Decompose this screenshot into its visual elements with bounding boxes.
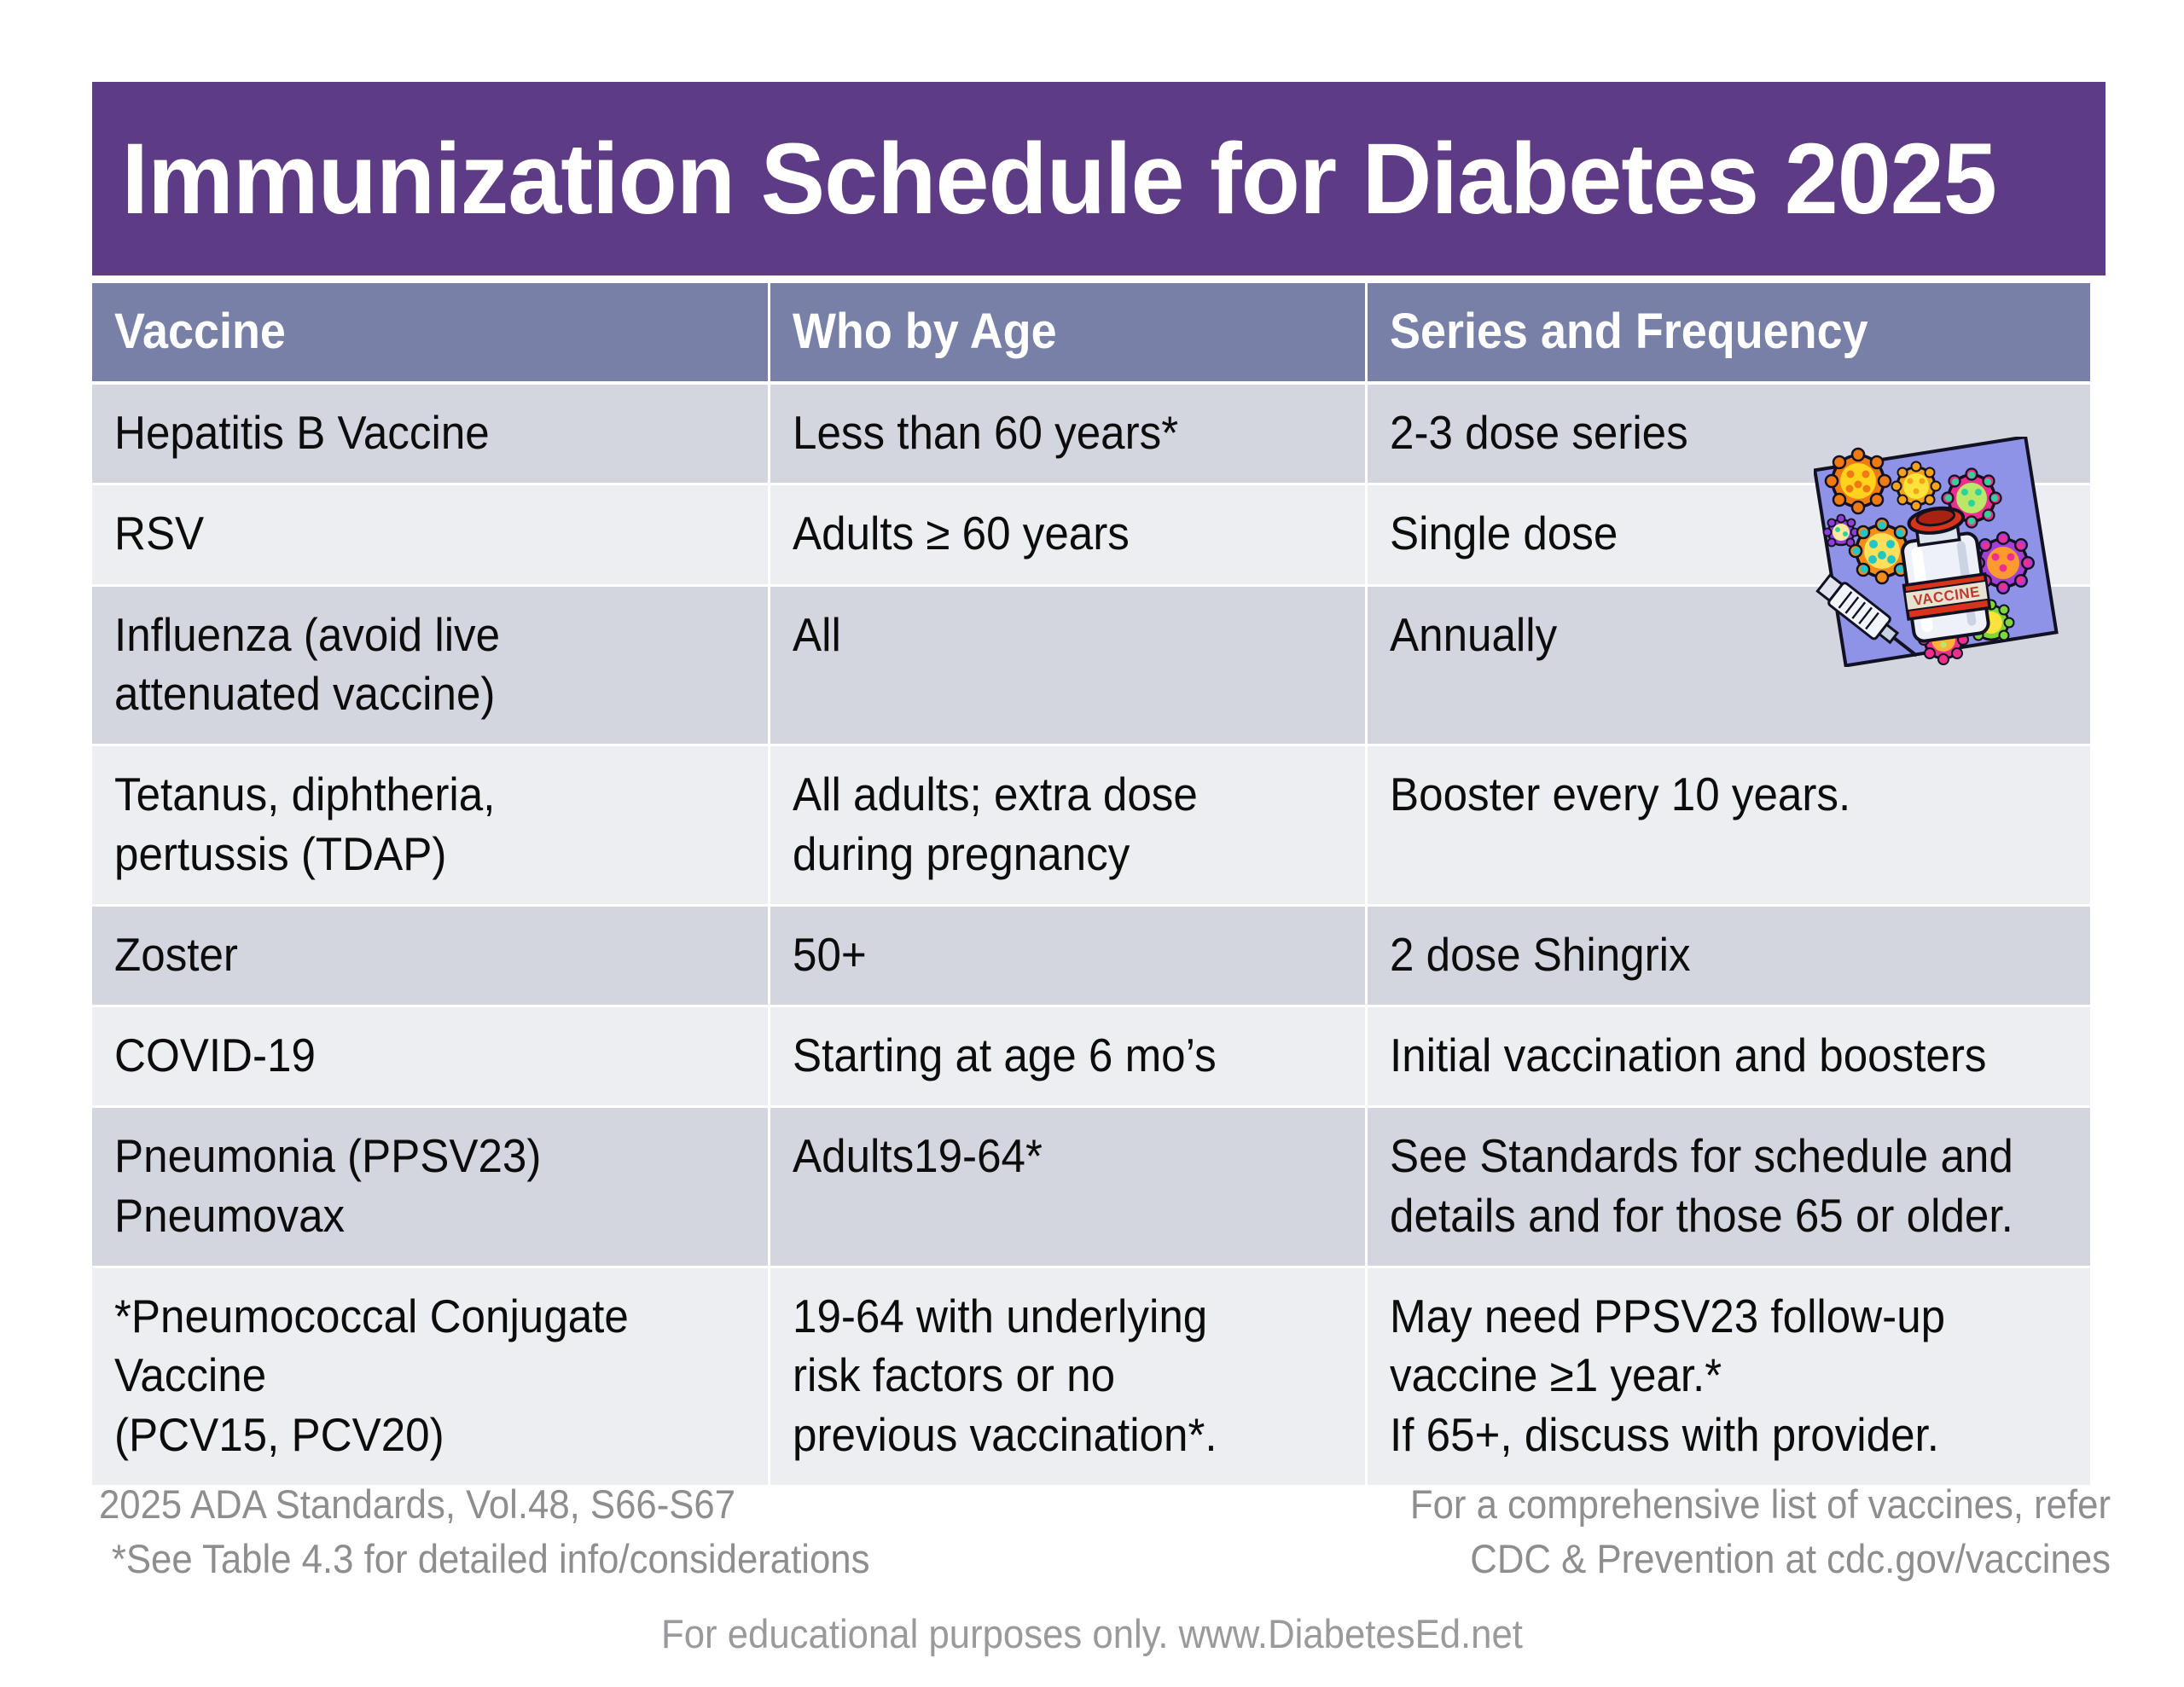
cell-vaccine: Pneumonia (PPSV23) Pneumovax xyxy=(92,1108,770,1268)
table-header-row: Vaccine Who by Age Series and Frequency xyxy=(92,283,2090,385)
cell-vaccine: Hepatitis B Vaccine xyxy=(92,385,770,485)
cell-vaccine: Tetanus, diphtheria, pertussis (TDAP) xyxy=(92,746,770,907)
column-header-vaccine: Vaccine xyxy=(92,283,770,385)
cell-who-by-age: All adults; extra dose during pregnancy xyxy=(770,746,1368,907)
slide-canvas: Immunization Schedule for Diabetes 2025 … xyxy=(0,0,2184,1687)
footer-educational-text: For educational purposes only. www.Diabe… xyxy=(661,1610,1523,1657)
cell-vaccine: *Pneumococcal Conjugate Vaccine (PCV15, … xyxy=(92,1268,770,1485)
table-row: RSV Adults ≥ 60 years Single dose xyxy=(92,485,2090,586)
cell-vaccine: Zoster xyxy=(92,907,770,1007)
footer-cdc-note: For a comprehensive list of vaccines, re… xyxy=(1258,1477,2111,1586)
footer-source-note: 2025 ADA Standards, Vol.48, S66-S67 *See… xyxy=(99,1477,1037,1586)
table-row: Zoster 50+ 2 dose Shingrix xyxy=(92,907,2090,1007)
title-bar: Immunization Schedule for Diabetes 2025 xyxy=(92,82,2106,275)
table-row: Pneumonia (PPSV23) Pneumovax Adults19-64… xyxy=(92,1108,2090,1268)
cell-series-and-frequency: Annually xyxy=(1368,587,2090,747)
page-title: Immunization Schedule for Diabetes 2025 xyxy=(92,129,1996,229)
cell-who-by-age: Less than 60 years* xyxy=(770,385,1368,485)
table-row: Tetanus, diphtheria, pertussis (TDAP) Al… xyxy=(92,746,2090,907)
cell-who-by-age: 50+ xyxy=(770,907,1368,1007)
table-row: *Pneumococcal Conjugate Vaccine (PCV15, … xyxy=(92,1268,2090,1485)
table-row: Influenza (avoid live attenuated vaccine… xyxy=(92,587,2090,747)
cell-who-by-age: All xyxy=(770,587,1368,747)
cell-series-and-frequency: Booster every 10 years. xyxy=(1368,746,2090,907)
cell-who-by-age: Adults ≥ 60 years xyxy=(770,485,1368,586)
cell-series-and-frequency: Initial vaccination and boosters xyxy=(1368,1007,2090,1108)
cell-vaccine: Influenza (avoid live attenuated vaccine… xyxy=(92,587,770,747)
column-header-series-and-frequency: Series and Frequency xyxy=(1368,283,2090,385)
cell-who-by-age: 19-64 with underlying risk factors or no… xyxy=(770,1268,1368,1485)
cell-vaccine: COVID-19 xyxy=(92,1007,770,1108)
cell-vaccine: RSV xyxy=(92,485,770,586)
footer-ada-standards: 2025 ADA Standards, Vol.48, S66-S67 xyxy=(99,1477,972,1532)
column-header-who-by-age: Who by Age xyxy=(770,283,1368,385)
cell-series-and-frequency: Single dose xyxy=(1368,485,2090,586)
footer-cdc-line2: CDC & Prevention at cdc.gov/vaccines xyxy=(1317,1532,2111,1586)
cell-series-and-frequency: 2-3 dose series xyxy=(1368,385,2090,485)
footer-table-reference: *See Table 4.3 for detailed info/conside… xyxy=(99,1532,972,1586)
cell-who-by-age: Starting at age 6 mo’s xyxy=(770,1007,1368,1108)
table-row: COVID-19 Starting at age 6 mo’s Initial … xyxy=(92,1007,2090,1108)
immunization-table: Vaccine Who by Age Series and Frequency … xyxy=(92,283,2090,1485)
cell-series-and-frequency: May need PPSV23 follow-up vaccine ≥1 yea… xyxy=(1368,1268,2090,1485)
cell-who-by-age: Adults19-64* xyxy=(770,1108,1368,1268)
footer-cdc-line1: For a comprehensive list of vaccines, re… xyxy=(1317,1477,2111,1532)
table-row: Hepatitis B Vaccine Less than 60 years* … xyxy=(92,385,2090,485)
cell-series-and-frequency: 2 dose Shingrix xyxy=(1368,907,2090,1007)
footer-educational-note: For educational purposes only. www.Diabe… xyxy=(0,1610,2184,1657)
cell-series-and-frequency: See Standards for schedule and details a… xyxy=(1368,1108,2090,1268)
